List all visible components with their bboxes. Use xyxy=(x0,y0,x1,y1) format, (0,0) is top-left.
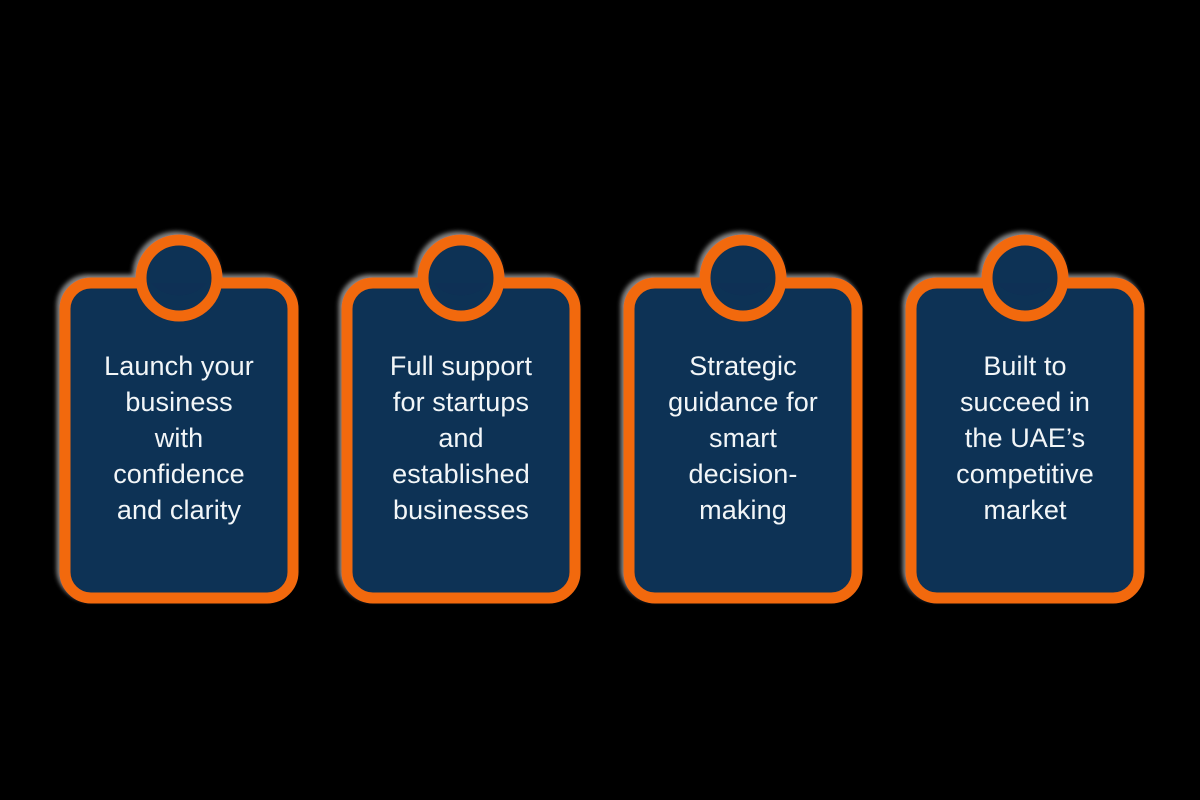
card-label-1: Launch your business with confidence and… xyxy=(76,348,282,528)
infographic-canvas: Launch your business with confidence and… xyxy=(0,0,1200,800)
clipboard-card-2[interactable]: Full support for startups and establishe… xyxy=(342,278,580,603)
card-text-container-4: Built to succeed in the UAE’s competitiv… xyxy=(916,278,1134,603)
card-label-3: Strategic guidance for smart decision- m… xyxy=(640,348,846,528)
card-text-container-3: Strategic guidance for smart decision- m… xyxy=(634,278,852,603)
card-label-2: Full support for startups and establishe… xyxy=(358,348,564,528)
card-row: Launch your business with confidence and… xyxy=(0,0,1200,800)
card-text-container-2: Full support for startups and establishe… xyxy=(352,278,570,603)
card-label-4: Built to succeed in the UAE’s competitiv… xyxy=(922,348,1128,528)
card-text-container-1: Launch your business with confidence and… xyxy=(70,278,288,603)
clipboard-card-3[interactable]: Strategic guidance for smart decision- m… xyxy=(624,278,862,603)
clipboard-card-1[interactable]: Launch your business with confidence and… xyxy=(60,278,298,603)
clipboard-card-4[interactable]: Built to succeed in the UAE’s competitiv… xyxy=(906,278,1144,603)
